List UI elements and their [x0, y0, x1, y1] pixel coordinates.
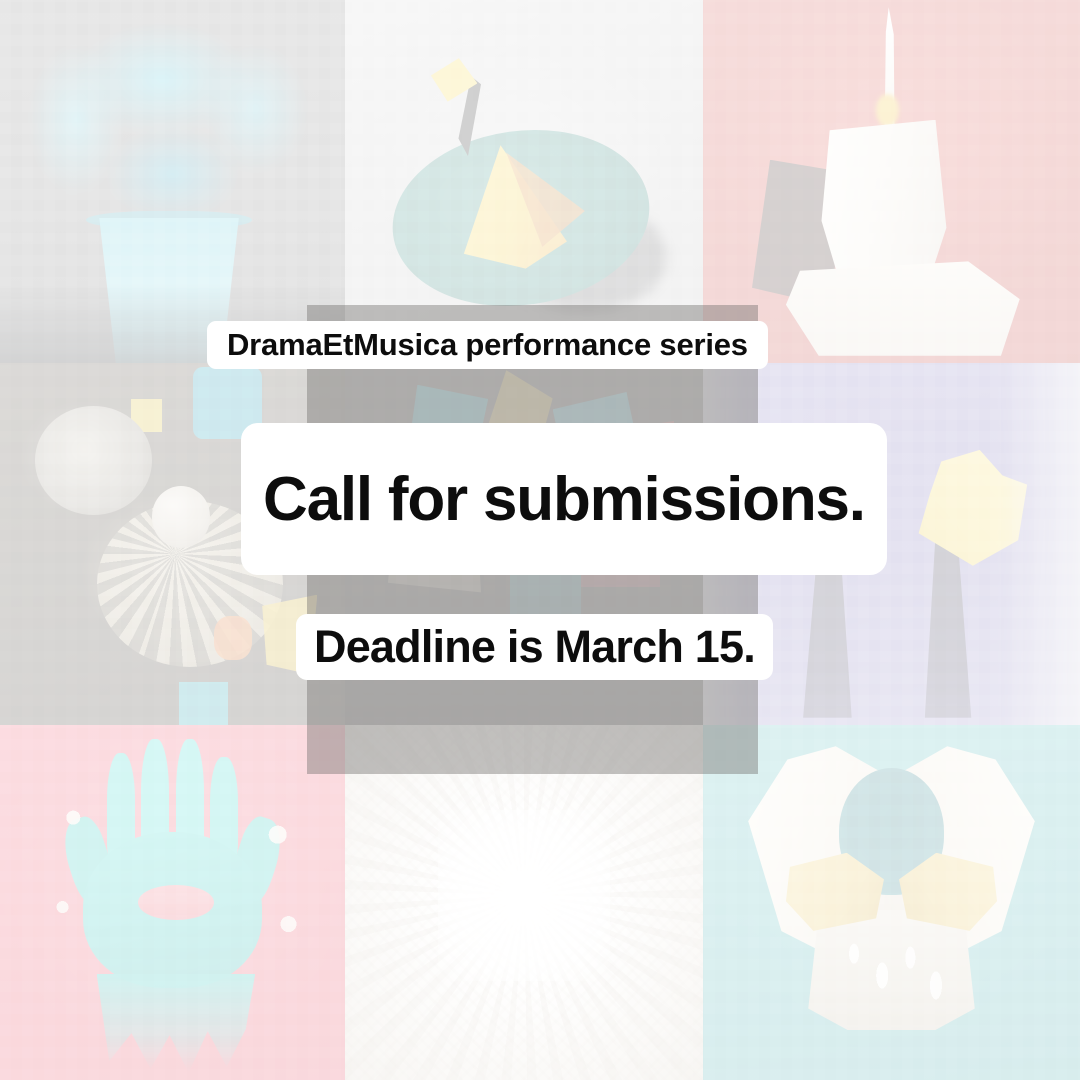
headline-label: Call for submissions. [241, 423, 887, 575]
text-stack: DramaEtMusica performance series Call fo… [0, 0, 1080, 1080]
deadline-label: Deadline is March 15. [296, 614, 773, 680]
kicker-label: DramaEtMusica performance series [207, 321, 768, 369]
poster-canvas: DramaEtMusica performance series Call fo… [0, 0, 1080, 1080]
